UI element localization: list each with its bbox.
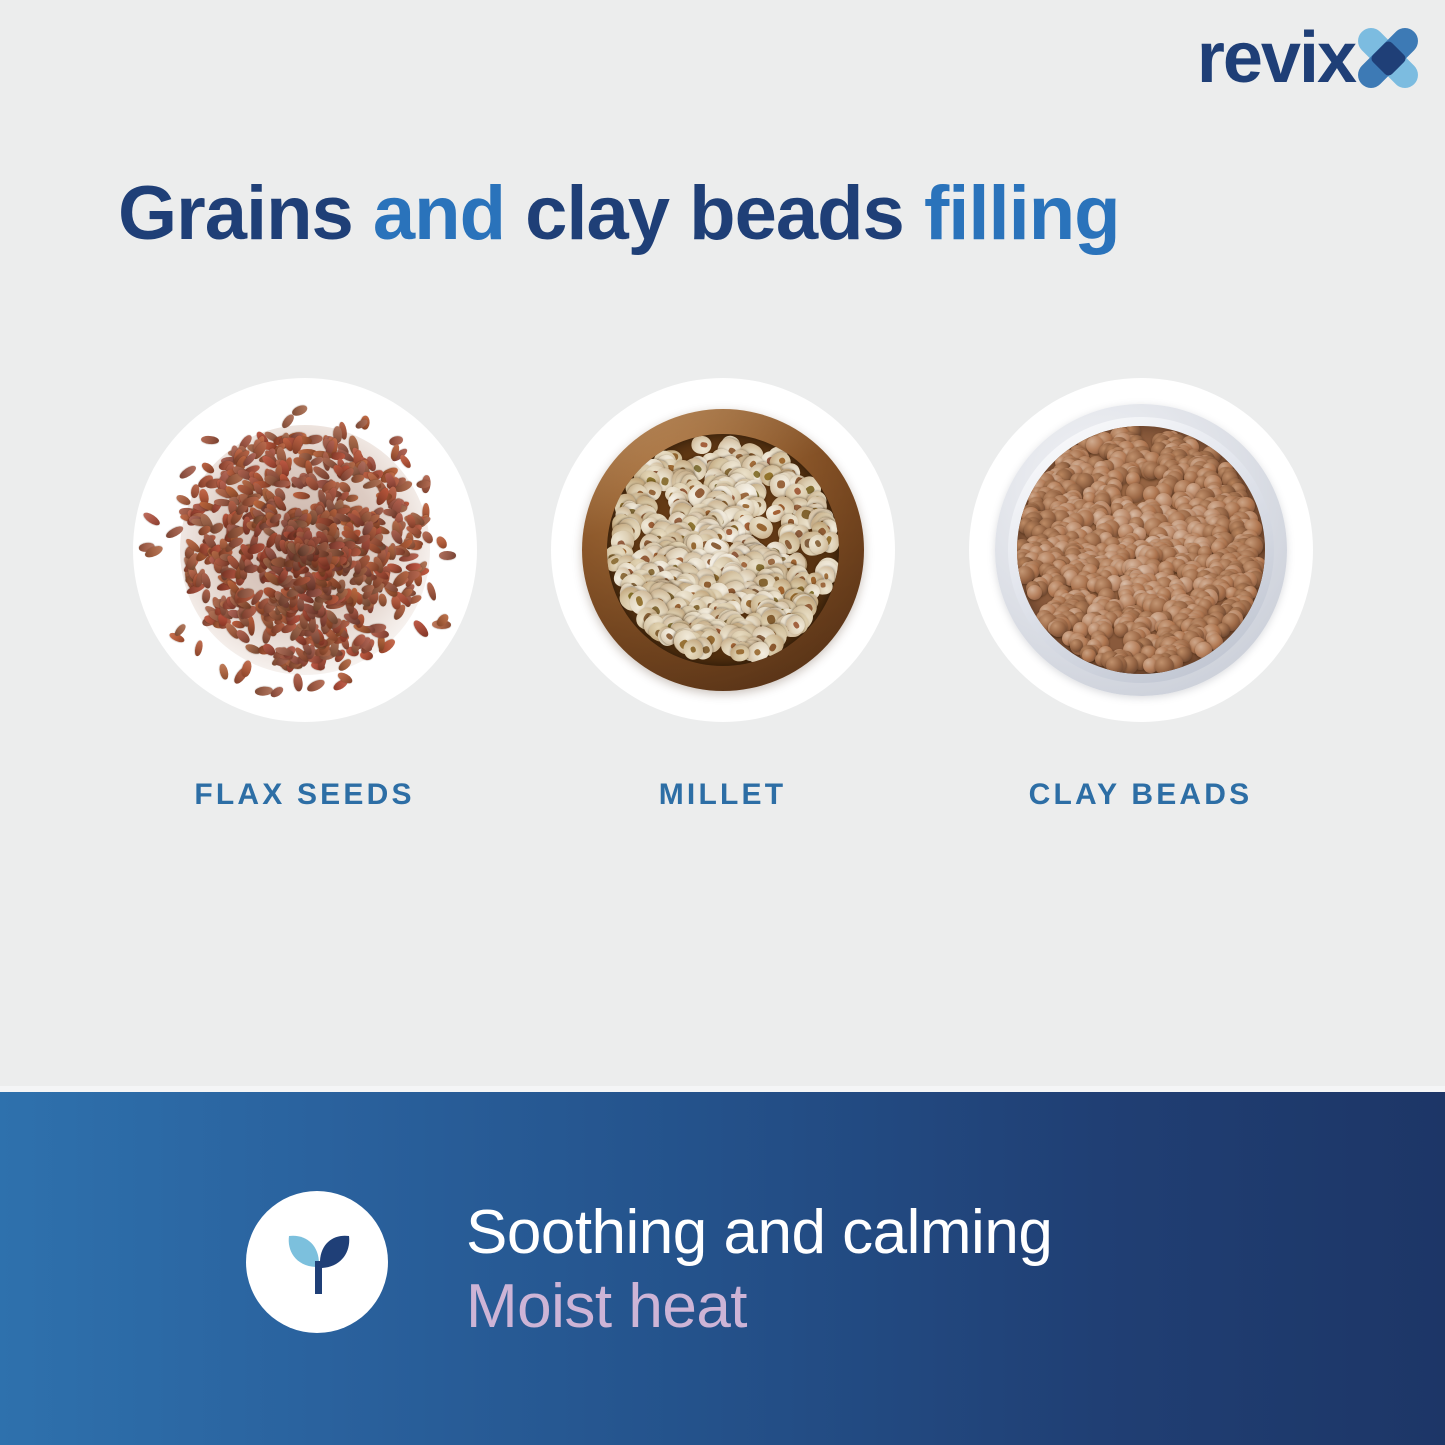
millet-grain-groove bbox=[820, 582, 825, 587]
millet-grain-groove bbox=[792, 621, 800, 630]
millet-grain-groove bbox=[755, 522, 768, 533]
millet-image-disc bbox=[551, 378, 895, 722]
millet-grain-groove bbox=[726, 529, 732, 535]
clay-bead bbox=[1027, 585, 1042, 600]
sprout-leaf-icon bbox=[246, 1191, 388, 1333]
millet-grain-groove bbox=[773, 509, 781, 515]
glass-interior-beads bbox=[1017, 426, 1265, 674]
clay-beads-illustration bbox=[969, 378, 1313, 722]
flax-seed bbox=[142, 511, 163, 529]
product-label-clay-beads: CLAY BEADS bbox=[1029, 778, 1253, 812]
flax-seed bbox=[411, 618, 430, 639]
banner-headline-line1: Soothing and calming bbox=[466, 1196, 1052, 1270]
headline-segment-filling: filling bbox=[924, 171, 1120, 256]
flax-seed bbox=[398, 453, 412, 469]
millet-grain-groove bbox=[648, 488, 657, 495]
product-millet: MILLET bbox=[551, 378, 895, 812]
millet-grain-groove bbox=[759, 578, 769, 586]
clay-bead bbox=[1082, 649, 1095, 662]
banner-text-block: Soothing and calming Moist heat bbox=[466, 1196, 1052, 1344]
headline-segment-and: and bbox=[373, 171, 525, 256]
flax-seed bbox=[177, 463, 198, 481]
logo-wordmark: revix bbox=[1197, 22, 1355, 94]
product-label-flax-seeds: FLAX SEEDS bbox=[194, 778, 414, 812]
flax-seed bbox=[292, 673, 303, 692]
millet-grain-groove bbox=[777, 480, 785, 489]
leaf-dark-shape-with-stem bbox=[315, 1236, 349, 1294]
millet-grain-groove bbox=[660, 477, 669, 486]
infographic-page: revix Grains and clay beads filling FLAX… bbox=[0, 0, 1445, 1445]
millet-grain-groove bbox=[736, 649, 744, 654]
flax-seed bbox=[439, 551, 456, 560]
flax-seed bbox=[425, 581, 438, 602]
flax-seed bbox=[305, 677, 326, 694]
brand-logo: revix bbox=[1197, 18, 1425, 98]
millet-grain-groove bbox=[793, 486, 802, 496]
product-clay-beads: CLAY BEADS bbox=[969, 378, 1313, 812]
bowl-interior-grains bbox=[607, 434, 839, 666]
flax-seed bbox=[194, 640, 204, 657]
product-flax-seeds: FLAX SEEDS bbox=[133, 378, 477, 812]
headline-segment-claybeads: clay beads bbox=[525, 171, 924, 256]
clay-bead bbox=[1155, 657, 1174, 674]
flax-seed bbox=[269, 685, 285, 700]
clay-bead bbox=[1106, 657, 1123, 674]
millet-grain-groove bbox=[700, 441, 707, 447]
flax-seeds-image-disc bbox=[133, 378, 477, 722]
headline-segment-grains: Grains bbox=[118, 171, 373, 256]
millet-grain-groove bbox=[693, 487, 706, 500]
millet-grain bbox=[690, 434, 713, 455]
clay-bead bbox=[1195, 642, 1211, 658]
product-label-millet: MILLET bbox=[659, 778, 787, 812]
millet-grain-groove bbox=[635, 596, 644, 607]
crossed-bandage-x-icon bbox=[1351, 21, 1425, 95]
clay-beads-image-disc bbox=[969, 378, 1313, 722]
product-ingredient-row: FLAX SEEDS MILLET bbox=[0, 378, 1445, 812]
flax-seed bbox=[218, 663, 229, 681]
leaf-light-shape bbox=[289, 1236, 319, 1267]
flax-seed bbox=[175, 493, 192, 507]
flax-seed bbox=[240, 659, 253, 678]
flax-seed bbox=[434, 535, 449, 551]
millet-illustration bbox=[551, 378, 895, 722]
millet-grain-groove bbox=[753, 648, 762, 657]
page-headline: Grains and clay beads filling bbox=[118, 176, 1368, 252]
banner-headline-line2: Moist heat bbox=[466, 1270, 1052, 1344]
flax-seeds-illustration bbox=[133, 378, 477, 722]
millet-grain-groove bbox=[690, 646, 697, 653]
millet-grain-groove bbox=[815, 540, 823, 548]
flax-seed bbox=[201, 435, 219, 445]
